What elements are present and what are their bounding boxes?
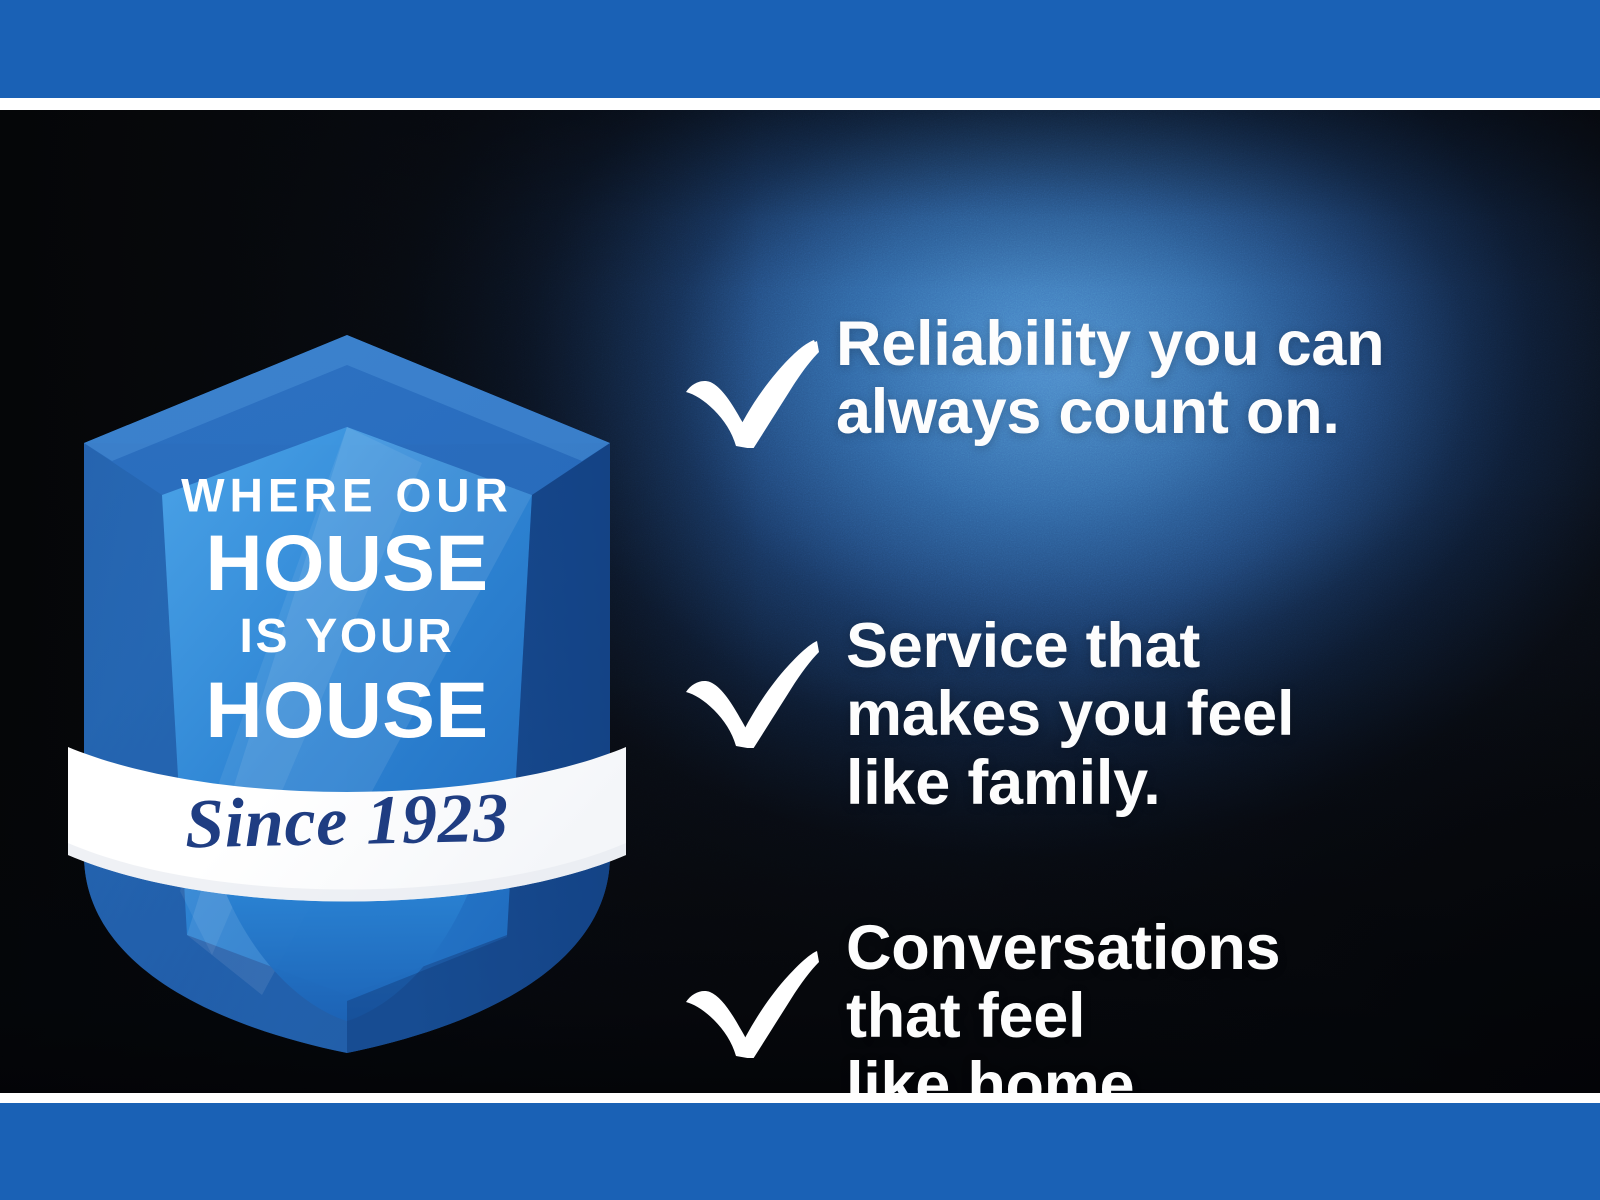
poster-canvas: WHERE OUR HOUSE IS YOUR HOUSE Since 1923… <box>0 110 1600 1093</box>
benefit-line: Conversations <box>846 913 1280 983</box>
logo-line-where-our: WHERE OUR <box>62 472 632 519</box>
benefit-line: like home. <box>846 1050 1152 1093</box>
logo-ribbon-since-1923: Since 1923 <box>61 776 633 868</box>
checkmark-icon <box>680 628 820 748</box>
bottom-white-divider <box>0 1093 1600 1103</box>
benefit-line: like family. <box>846 748 1160 818</box>
benefit-line: Service that <box>846 611 1200 681</box>
top-white-divider <box>0 98 1600 110</box>
logo-line-house-2: HOUSE <box>62 670 632 749</box>
benefit-text: Conversationsthat feellike home. <box>846 914 1558 1093</box>
promotional-poster: WHERE OUR HOUSE IS YOUR HOUSE Since 1923… <box>0 0 1600 1200</box>
checkmark-icon <box>680 328 820 448</box>
benefit-text: Reliability you canalways count on. <box>836 310 1548 447</box>
benefit-line: Reliability you can <box>836 309 1384 379</box>
benefit-text: Service thatmakes you feellike family. <box>846 612 1558 817</box>
company-shield-logo: WHERE OUR HOUSE IS YOUR HOUSE Since 1923 <box>62 295 632 1055</box>
checkmark-icon <box>680 938 820 1058</box>
top-brand-bar <box>0 0 1600 98</box>
bottom-brand-bar <box>0 1103 1600 1200</box>
benefit-line: that feel <box>846 981 1085 1051</box>
benefit-line: makes you feel <box>846 679 1294 749</box>
logo-line-is-your: IS YOUR <box>62 613 632 661</box>
benefit-line: always count on. <box>836 377 1340 447</box>
logo-line-house-1: HOUSE <box>62 523 632 602</box>
